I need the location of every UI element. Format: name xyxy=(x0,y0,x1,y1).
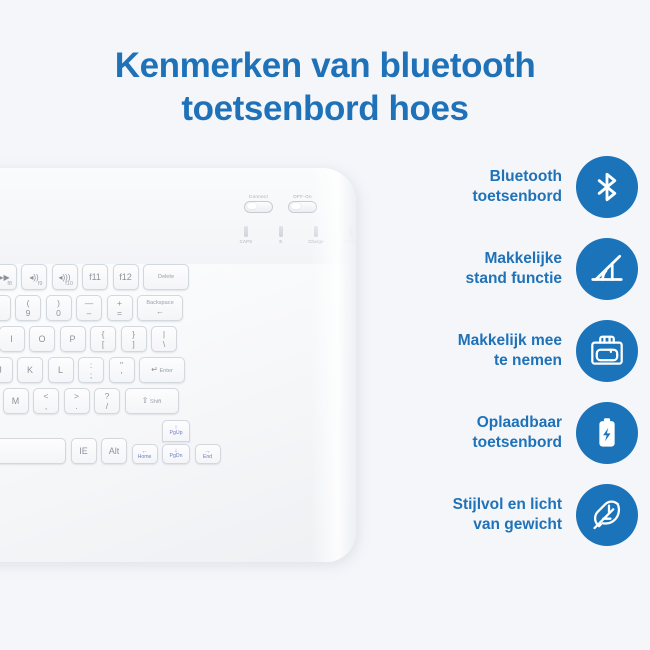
key-enter-label: Enter xyxy=(159,368,172,374)
key-label: O xyxy=(38,334,45,344)
key-alt[interactable]: Alt xyxy=(101,438,127,464)
key-shift-label: ) xyxy=(57,299,60,308)
key-label: Backspace ← xyxy=(146,300,173,316)
key-label: + = xyxy=(117,299,122,317)
key-label: ? / xyxy=(105,392,110,410)
key-base-label: – xyxy=(87,309,92,318)
page-title-line-1: Kenmerken van bluetooth xyxy=(40,44,610,87)
power-switch[interactable]: OFF-On xyxy=(288,194,317,213)
key-shift-label: ? xyxy=(105,392,110,401)
feature-label: Bluetooth toetsenbord xyxy=(472,167,562,207)
keyboard-keys: ▶‖ f7 ▶▶ f8 ◂)) f9 ◂))) f10 f11 f12 xyxy=(0,264,356,469)
led-indicator: CAPS xyxy=(236,226,256,244)
key-alt-label: PgDn xyxy=(170,454,183,460)
page-title: Kenmerken van bluetooth toetsenbord hoes xyxy=(40,44,610,131)
briefcase-icon xyxy=(576,320,638,382)
feature-item-bluetooth: Bluetooth toetsenbord xyxy=(378,146,638,228)
feature-item-stand: Makkelijke stand functie xyxy=(378,228,638,310)
keyboard-row-numbers: & 7 * 8 ( 9 ) 0 xyxy=(0,295,356,321)
keyboard-row-space: IE Alt ← Home ↑ PgUp ↓ PgDn → xyxy=(0,419,356,464)
power-switch-knob xyxy=(291,203,301,209)
key-sublabel: f8 xyxy=(7,281,12,287)
shift-arrow-icon: ⇧ xyxy=(142,396,149,405)
key-sublabel: f10 xyxy=(65,281,73,287)
keyboard-top-bezel: Connect OFF-On CAPS E Charge xyxy=(0,168,356,264)
key-9[interactable]: ( 9 xyxy=(15,295,41,321)
key-label: J xyxy=(0,365,2,375)
key-label: ( 9 xyxy=(26,299,31,317)
key-shift-label: " xyxy=(120,361,123,370)
connect-switch-knob xyxy=(247,203,257,209)
key-label: > . xyxy=(74,392,79,410)
key-sublabel: f9 xyxy=(38,281,43,287)
connect-switch-track xyxy=(244,201,273,213)
key-shift-label: > xyxy=(74,392,79,401)
keyboard-row-uiop: U I O P { [ } ] xyxy=(0,326,356,352)
key-shift-label: ( xyxy=(27,299,30,308)
led-dot-icon xyxy=(244,226,248,237)
key-label: ) 0 xyxy=(56,299,61,317)
feather-icon xyxy=(576,484,638,546)
feature-list: Bluetooth toetsenbord Makkelijke stand f… xyxy=(378,146,638,556)
bluetooth-icon xyxy=(576,156,638,218)
key-label: { [ xyxy=(102,330,105,348)
key-shift-label: — xyxy=(85,299,94,308)
key-alt-label: Home xyxy=(138,455,152,461)
key-shift-text: Shift xyxy=(150,399,161,405)
power-switch-track xyxy=(288,201,317,213)
led-dot-icon xyxy=(314,226,318,237)
key-backslash[interactable]: | \ xyxy=(151,326,177,352)
led-label: Charge xyxy=(306,239,326,244)
key-arrow-down-pgdn[interactable]: ↓ PgDn xyxy=(162,444,190,464)
key-shift-label: + xyxy=(117,299,122,308)
key-label: I xyxy=(10,334,13,344)
feature-label: Makkelijk mee te nemen xyxy=(458,331,562,371)
key-delete[interactable]: Delete xyxy=(143,264,189,290)
key-arrow-right-end[interactable]: → End xyxy=(195,444,221,464)
feature-item-rechargeable: Oplaadbaar toetsenbord xyxy=(378,392,638,474)
key-arrow-updown-stack: ↑ PgUp ↓ PgDn xyxy=(162,419,190,464)
key-backspace-label: Backspace xyxy=(146,300,173,306)
key-label: f12 xyxy=(119,272,132,282)
led-indicator: E xyxy=(271,226,291,244)
key-label: " ' xyxy=(120,361,123,379)
keyboard-row-function: ▶‖ f7 ▶▶ f8 ◂)) f9 ◂))) f10 f11 f12 xyxy=(0,264,356,290)
key-0[interactable]: ) 0 xyxy=(46,295,72,321)
key-label: < , xyxy=(44,392,49,410)
key-arrow-left-home[interactable]: ← Home xyxy=(132,444,158,464)
key-k[interactable]: K xyxy=(17,357,43,383)
led-indicator: Power xyxy=(341,226,356,244)
key-j[interactable]: J xyxy=(0,357,13,383)
key-label: ↵ Enter xyxy=(151,365,173,374)
keyboard-row-hjkl: H J K L : ; " ' xyxy=(0,357,356,383)
keyboard-product-photo: Connect OFF-On CAPS E Charge xyxy=(0,168,356,562)
connect-switch[interactable]: Connect xyxy=(244,194,273,213)
key-volume-down[interactable]: ◂)) f9 xyxy=(21,264,47,290)
key-shift-label: : xyxy=(90,361,92,370)
key-f12[interactable]: f12 xyxy=(113,264,139,290)
key-enter[interactable]: ↵ Enter xyxy=(139,357,185,383)
key-label: } ] xyxy=(132,330,135,348)
key-shift-label: < xyxy=(44,392,49,401)
key-bracket-left[interactable]: { [ xyxy=(90,326,116,352)
key-f11[interactable]: f11 xyxy=(82,264,108,290)
stand-icon xyxy=(576,238,638,300)
key-base-label: . xyxy=(75,402,77,411)
key-period[interactable]: > . xyxy=(64,388,90,414)
key-arrow-up-pgup[interactable]: ↑ PgUp xyxy=(162,420,190,442)
key-shift-label: | xyxy=(163,330,165,339)
led-dot-icon xyxy=(349,226,353,237)
led-label: Power xyxy=(341,239,356,244)
key-i[interactable]: I xyxy=(0,326,25,352)
page-title-line-2: toetsenbord hoes xyxy=(40,87,610,130)
key-quote[interactable]: " ' xyxy=(109,357,135,383)
connect-switch-label: Connect xyxy=(244,194,273,199)
key-equals[interactable]: + = xyxy=(107,295,133,321)
led-label: E xyxy=(271,239,291,244)
key-shift-label: } xyxy=(132,330,135,339)
arrow-left-icon: ← xyxy=(156,307,164,316)
key-label: — – xyxy=(85,299,94,317)
key-label: : ; xyxy=(90,361,92,379)
key-shift-label: { xyxy=(102,330,105,339)
key-shift-right[interactable]: ⇧ Shift xyxy=(125,388,179,414)
key-8[interactable]: * 8 xyxy=(0,295,11,321)
key-base-label: 9 xyxy=(26,309,31,318)
key-base-label: ] xyxy=(132,340,134,349)
feature-label: Makkelijke stand functie xyxy=(466,249,562,289)
led-indicator: Charge xyxy=(306,226,326,244)
led-label: CAPS xyxy=(236,239,256,244)
key-label: Delete xyxy=(158,274,174,280)
key-backspace[interactable]: Backspace ← xyxy=(137,295,183,321)
key-slash[interactable]: ? / xyxy=(94,388,120,414)
key-base-label: / xyxy=(106,402,108,411)
key-label: L xyxy=(58,365,63,375)
key-base-label: , xyxy=(45,402,47,411)
key-label: | \ xyxy=(163,330,165,348)
key-p[interactable]: P xyxy=(60,326,86,352)
key-space[interactable] xyxy=(0,438,66,464)
key-alt-label: End xyxy=(203,455,212,461)
key-minus[interactable]: — – xyxy=(76,295,102,321)
led-dot-icon xyxy=(279,226,283,237)
feature-label: Oplaadbaar toetsenbord xyxy=(472,413,562,453)
key-base-label: 0 xyxy=(56,309,61,318)
feature-item-lightweight: Stijlvol en licht van gewicht xyxy=(378,474,638,556)
feature-item-portable: Makkelijk mee te nemen xyxy=(378,310,638,392)
key-label: f11 xyxy=(89,272,101,282)
keyboard-row-nm: N M < , > . ? / xyxy=(0,388,356,414)
key-bracket-right[interactable]: } ] xyxy=(121,326,147,352)
key-label: Alt xyxy=(109,446,120,456)
battery-charging-icon xyxy=(576,402,638,464)
key-ie[interactable]: IE xyxy=(71,438,97,464)
key-base-label: ' xyxy=(121,371,123,380)
led-indicator-row: CAPS E Charge Power xyxy=(236,226,356,244)
key-semicolon[interactable]: : ; xyxy=(78,357,104,383)
key-label: IE xyxy=(79,446,88,456)
key-base-label: [ xyxy=(102,340,104,349)
key-m[interactable]: M xyxy=(3,388,29,414)
key-comma[interactable]: < , xyxy=(33,388,59,414)
key-base-label: ; xyxy=(90,371,92,380)
key-label: M xyxy=(12,396,20,406)
key-volume-up[interactable]: ◂))) f10 xyxy=(52,264,78,290)
enter-arrow-icon: ↵ xyxy=(151,365,158,374)
key-label: P xyxy=(69,334,75,344)
key-base-label: = xyxy=(117,309,122,318)
key-label: K xyxy=(27,365,33,375)
key-l[interactable]: L xyxy=(48,357,74,383)
key-o[interactable]: O xyxy=(29,326,55,352)
power-switch-label: OFF-On xyxy=(288,194,317,199)
key-label: ⇧ Shift xyxy=(142,396,161,405)
key-alt-label: PgUp xyxy=(170,431,183,437)
key-base-label: \ xyxy=(163,340,165,349)
key-forward[interactable]: ▶▶ f8 xyxy=(0,264,17,290)
feature-label: Stijlvol en licht van gewicht xyxy=(453,495,562,535)
